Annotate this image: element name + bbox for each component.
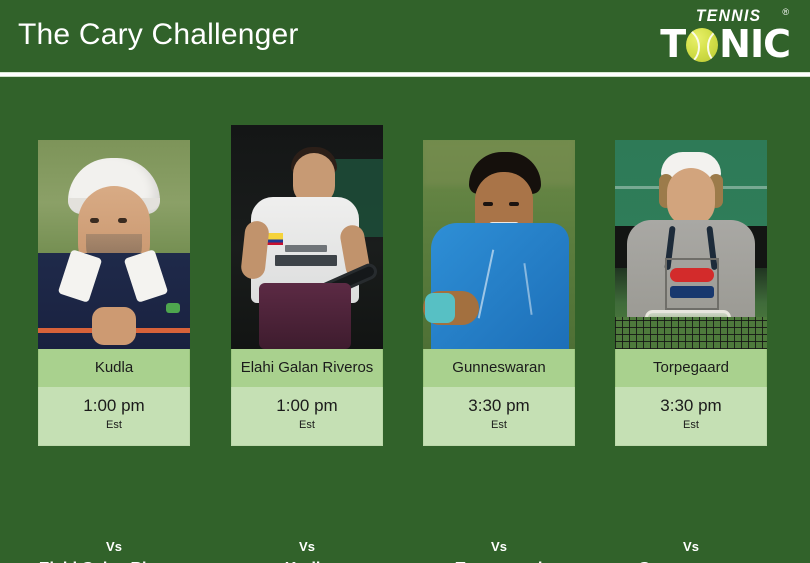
vs-label: Vs (409, 538, 589, 555)
match-time: 3:30 pm (620, 396, 762, 416)
player-photo-torpegaard (615, 140, 767, 349)
registered-trademark-icon: ® (782, 8, 789, 17)
match-card[interactable]: Torpegaard 3:30 pm Est (615, 140, 767, 446)
vs-block: Vs Torpegaard (409, 538, 589, 563)
match-time-block: 1:00 pm Est (38, 387, 190, 446)
match-time-block: 3:30 pm Est (423, 387, 575, 446)
tennis-ball-icon (686, 28, 718, 62)
match-timezone: Est (236, 417, 378, 433)
match-time: 1:00 pm (236, 396, 378, 416)
player-name: Kudla (38, 349, 190, 387)
match-card[interactable]: Gunneswaran 3:30 pm Est (423, 140, 575, 446)
tennis-tonic-logo[interactable]: ® TENNIS T NIC (644, 6, 794, 64)
logo-letter-t: T (660, 26, 685, 62)
opponent-name: Gunneswaran (601, 558, 781, 563)
logo-top-text: TENNIS (696, 7, 762, 24)
player-name: Gunneswaran (423, 349, 575, 387)
vs-label: Vs (601, 538, 781, 555)
match-time: 3:30 pm (428, 396, 570, 416)
logo-letters-nic: NIC (719, 26, 790, 62)
match-time: 1:00 pm (43, 396, 185, 416)
header-divider (0, 70, 810, 80)
match-timezone: Est (43, 417, 185, 433)
vs-label: Vs (24, 538, 204, 555)
player-photo-kudla (38, 140, 190, 349)
matches-board: Kudla 1:00 pm Est Vs Elahi Galan Riveros… (0, 80, 810, 563)
match-card[interactable]: Elahi Galan Riveros 1:00 pm Est (231, 125, 383, 446)
match-card[interactable]: Kudla 1:00 pm Est (38, 140, 190, 446)
opponent-name: Kudla (217, 558, 397, 563)
opponent-name: Torpegaard (409, 558, 589, 563)
page-header: The Cary Challenger ® TENNIS T NIC (0, 0, 810, 70)
player-photo-galan-riveros (231, 125, 383, 349)
vs-block: Vs Kudla (217, 538, 397, 563)
match-timezone: Est (620, 417, 762, 433)
vs-label: Vs (217, 538, 397, 555)
player-photo-gunneswaran (423, 140, 575, 349)
match-time-block: 3:30 pm Est (615, 387, 767, 446)
match-time-block: 1:00 pm Est (231, 387, 383, 446)
match-timezone: Est (428, 417, 570, 433)
vs-block: Vs Gunneswaran (601, 538, 781, 563)
player-name: Elahi Galan Riveros (231, 349, 383, 387)
opponent-name: Elahi Galan Riveros (24, 558, 204, 563)
page-title: The Cary Challenger (18, 20, 299, 50)
logo-main-text: T NIC (660, 26, 790, 62)
vs-block: Vs Elahi Galan Riveros (24, 538, 204, 563)
player-name: Torpegaard (615, 349, 767, 387)
